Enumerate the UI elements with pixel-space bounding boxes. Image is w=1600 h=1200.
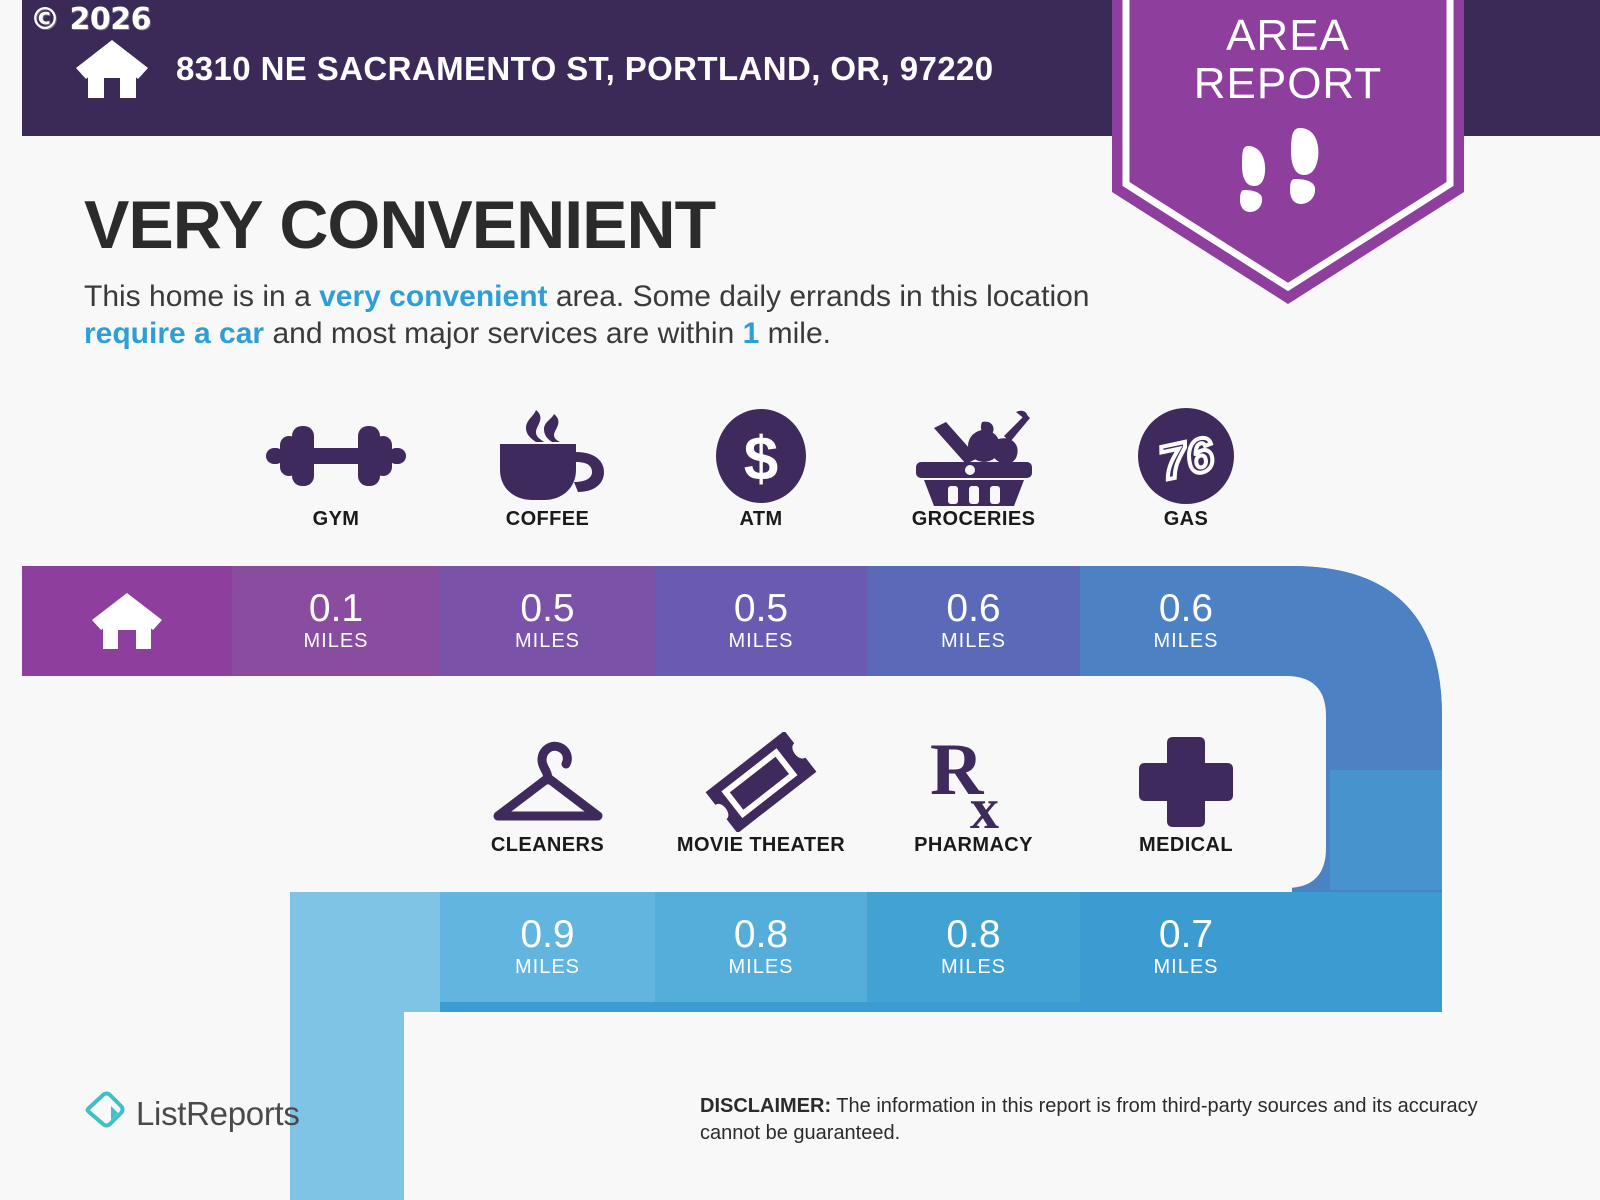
listreports-wordmark: ListReports [136, 1095, 300, 1133]
poi-label: ATM [655, 508, 867, 531]
distance-unit: MILES [655, 630, 867, 653]
poi-label: COFFEE [440, 508, 655, 531]
distance-unit: MILES [1080, 956, 1292, 979]
page-title: VERY CONVENIENT [84, 186, 715, 264]
property-address: 8310 NE SACRAMENTO ST, PORTLAND, OR, 972… [176, 50, 994, 88]
distance-coffee: 0.5 MILES [440, 588, 655, 653]
poi-cleaners: CLEANERS [440, 730, 655, 880]
distance-value: 0.5 [655, 588, 867, 630]
poi-label: MOVIE THEATER [655, 834, 867, 857]
summary-plain: and most major services are within [264, 317, 743, 350]
disclaimer-label: DISCLAIMER: [700, 1095, 831, 1117]
dumbbell-icon [232, 404, 440, 508]
poi-atm: $ ATM [655, 404, 867, 554]
area-report-badge: AREA REPORT [1112, 0, 1464, 304]
distance-atm: 0.5 MILES [655, 588, 867, 653]
icon-row-1: GYM COFFEE $ [0, 404, 1600, 554]
disclaimer: DISCLAIMER: The information in this repo… [700, 1093, 1500, 1147]
hanger-icon [440, 730, 655, 834]
distance-unit: MILES [440, 630, 655, 653]
summary-accent: very convenient [319, 280, 547, 313]
summary-accent: require a car [84, 317, 264, 350]
distance-gym: 0.1 MILES [232, 588, 440, 653]
copyright-label: © 2026 [30, 2, 151, 37]
poi-pharmacy: R x PHARMACY [867, 730, 1080, 880]
footprints-icon [1230, 124, 1346, 216]
summary-plain: mile. [759, 317, 831, 350]
coffee-cup-icon [440, 404, 655, 508]
badge-line-2: REPORT [1112, 60, 1464, 108]
poi-label: PHARMACY [867, 834, 1080, 857]
listreports-house-icon [84, 1090, 126, 1137]
movie-ticket-icon [655, 730, 867, 834]
icon-row-2: CLEANERS MOVIE THEATER R x [0, 730, 1600, 880]
distance-cleaners: 0.9 MILES [440, 914, 655, 979]
dollar-circle-icon: $ [655, 404, 867, 508]
distance-gas: 0.6 MILES [1080, 588, 1292, 653]
distance-unit: MILES [1080, 630, 1292, 653]
poi-gas: 76 GAS [1080, 404, 1292, 554]
distance-unit: MILES [232, 630, 440, 653]
poi-label: GROCERIES [867, 508, 1080, 531]
distance-unit: MILES [867, 956, 1080, 979]
summary-accent: 1 [743, 317, 760, 350]
gas-76-icon: 76 [1080, 404, 1292, 508]
poi-label: CLEANERS [440, 834, 655, 857]
distance-unit: MILES [867, 630, 1080, 653]
home-icon [89, 591, 165, 651]
medical-cross-icon [1080, 730, 1292, 834]
listreports-brand: ListReports [84, 1090, 300, 1137]
svg-text:76: 76 [1155, 428, 1219, 491]
distance-value: 0.5 [440, 588, 655, 630]
poi-coffee: COFFEE [440, 404, 655, 554]
summary-plain: This home is in a [84, 280, 319, 313]
distance-unit: MILES [655, 956, 867, 979]
distance-value: 0.1 [232, 588, 440, 630]
distance-pharmacy: 0.8 MILES [867, 914, 1080, 979]
summary-plain: area. Some daily errands in this locatio… [548, 280, 1090, 313]
poi-label: GAS [1080, 508, 1292, 531]
poi-groceries: GROCERIES [867, 404, 1080, 554]
poi-medical: MEDICAL [1080, 730, 1292, 880]
distance-value: 0.9 [440, 914, 655, 956]
badge-title: AREA REPORT [1112, 12, 1464, 108]
distance-medical: 0.7 MILES [1080, 914, 1292, 979]
poi-label: MEDICAL [1080, 834, 1292, 857]
distance-groceries: 0.6 MILES [867, 588, 1080, 653]
distance-value: 0.8 [655, 914, 867, 956]
distance-value: 0.6 [867, 588, 1080, 630]
grocery-basket-icon [867, 404, 1080, 508]
distance-value: 0.6 [1080, 588, 1292, 630]
distance-value: 0.8 [867, 914, 1080, 956]
poi-label: GYM [232, 508, 440, 531]
distance-movie-theater: 0.8 MILES [655, 914, 867, 979]
poi-movie-theater: MOVIE THEATER [655, 730, 867, 880]
distance-value: 0.7 [1080, 914, 1292, 956]
poi-gym: GYM [232, 404, 440, 554]
svg-text:x: x [970, 776, 999, 832]
svg-text:$: $ [744, 425, 778, 494]
rx-icon: R x [867, 730, 1080, 834]
home-icon [72, 38, 152, 100]
badge-line-1: AREA [1112, 12, 1464, 60]
distance-unit: MILES [440, 956, 655, 979]
summary-text: This home is in a very convenient area. … [84, 278, 1094, 352]
